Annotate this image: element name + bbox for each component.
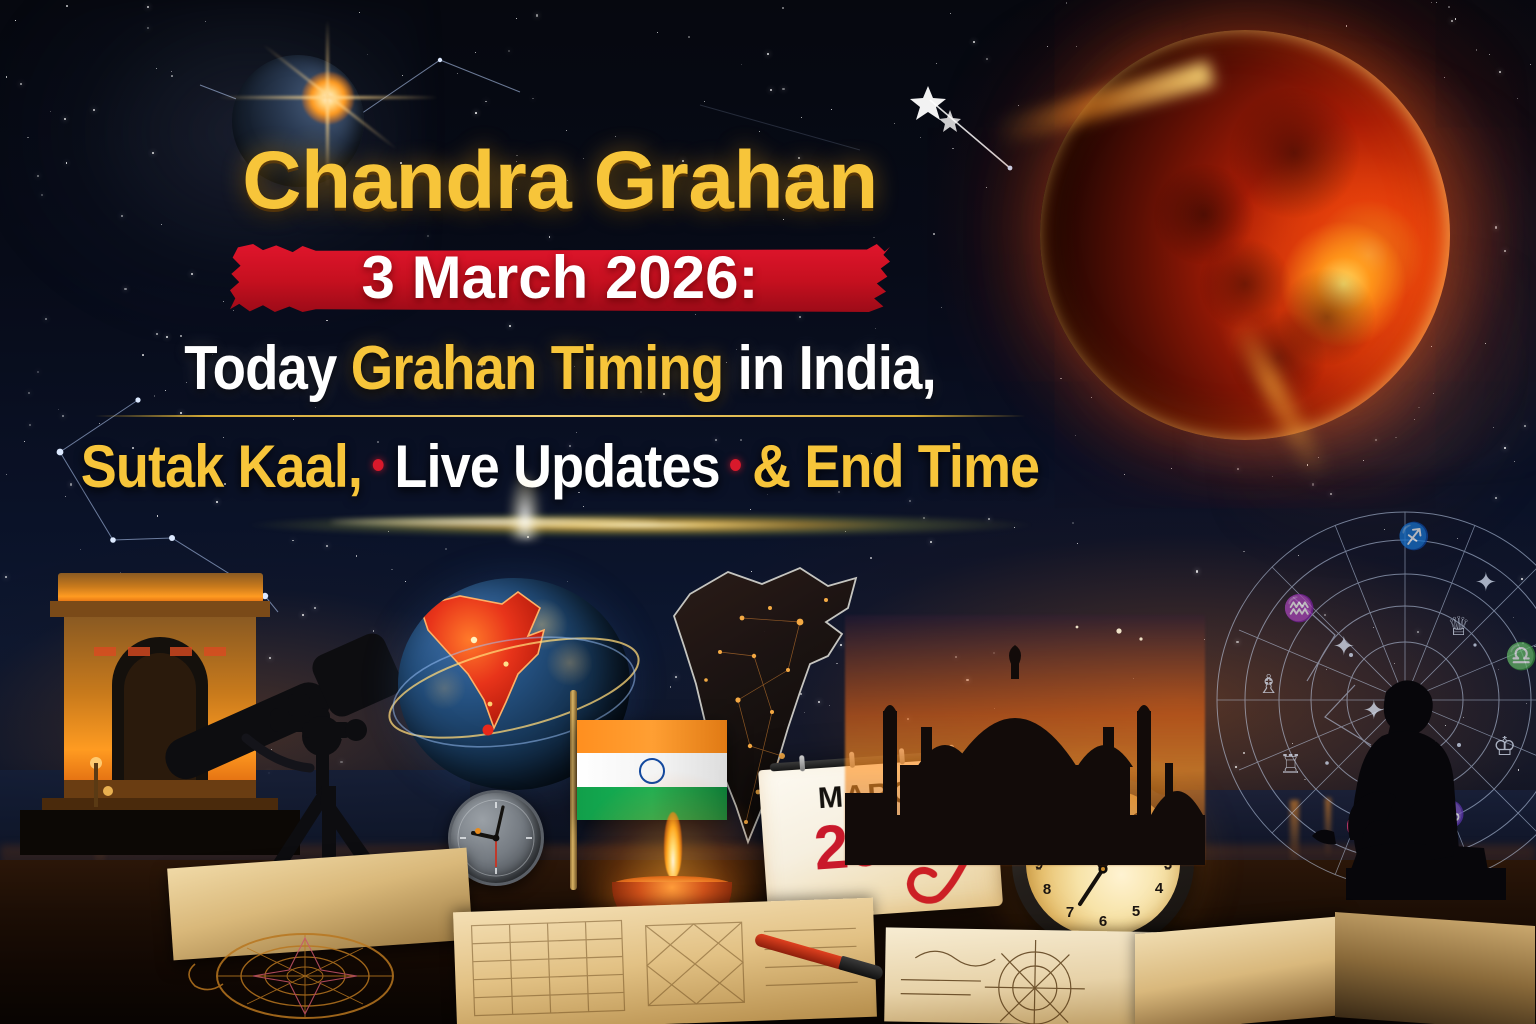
star <box>6 76 7 77</box>
dot-separator-icon <box>731 459 742 471</box>
star <box>920 137 921 138</box>
headline-block: Chandra Grahan 3 March 2026: Today Graha… <box>0 140 1120 498</box>
star <box>457 73 458 74</box>
star <box>950 13 951 14</box>
star <box>326 545 328 547</box>
star <box>205 21 206 22</box>
calendar-ring <box>799 755 805 771</box>
flag-saffron-band <box>577 720 727 753</box>
star <box>402 75 403 76</box>
star <box>782 7 784 9</box>
headline-line3-part-1: Today <box>184 334 350 403</box>
star <box>475 112 477 114</box>
orbit-marker-dot <box>483 725 494 736</box>
flame-icon <box>664 812 682 878</box>
svg-text:♒: ♒ <box>1283 593 1315 623</box>
headline-line-3: Today Grahan Timing in India, <box>67 336 1053 401</box>
star <box>15 20 16 21</box>
headline-live-updates: Live Updates <box>394 433 719 500</box>
headline-end-time: & End Time <box>752 433 1039 500</box>
star <box>147 27 149 29</box>
star <box>583 506 584 507</box>
star <box>704 101 705 102</box>
star <box>1072 522 1074 524</box>
star <box>356 555 358 557</box>
open-book <box>1135 915 1535 1024</box>
glow-swoosh-core <box>330 518 660 526</box>
headline-line3-part-2: Grahan Timing <box>351 334 724 403</box>
book-page-right <box>1335 912 1535 1024</box>
star <box>767 53 769 55</box>
star <box>5 576 7 578</box>
date-banner: 3 March 2026: <box>230 236 890 320</box>
star <box>171 75 173 77</box>
svg-text:7: 7 <box>1066 904 1074 921</box>
star <box>157 515 159 517</box>
glow-swoosh-flash <box>508 470 542 540</box>
eclipse-promo-banner: MARCH 2026 1212 345 678 91011 <box>0 0 1536 1024</box>
sitting-person-silhouette <box>1290 650 1510 900</box>
svg-text:8: 8 <box>1043 881 1051 898</box>
star <box>1524 425 1526 427</box>
headline-date-label: 3 March 2026: <box>230 236 890 320</box>
evening-stars <box>1076 626 1143 641</box>
star <box>475 52 476 53</box>
star <box>485 101 487 103</box>
book-page-left <box>1135 916 1345 1024</box>
star <box>870 557 872 559</box>
star <box>801 117 802 118</box>
star <box>532 98 534 100</box>
star <box>508 50 510 52</box>
star <box>566 130 567 131</box>
star <box>770 89 772 91</box>
star <box>359 12 360 13</box>
star <box>445 548 447 550</box>
svg-text:4: 4 <box>1155 880 1164 897</box>
star <box>750 509 752 511</box>
taj-mahal-silhouette-icon <box>845 645 1205 865</box>
star <box>93 109 95 111</box>
svg-text:♗: ♗ <box>1257 670 1280 699</box>
headline-sutak-kaal: Sutak Kaal, <box>81 433 362 500</box>
star <box>894 123 896 125</box>
glow-swoosh-underline <box>245 512 1035 538</box>
star <box>50 111 51 112</box>
gold-divider-rule <box>94 415 1026 417</box>
headline-line-1: Chandra Grahan <box>0 140 1120 222</box>
star <box>657 32 658 33</box>
headline-line-4: Sutak Kaal,Live Updates& End Time <box>56 435 1064 498</box>
star <box>147 6 149 8</box>
red-checkmark-icon <box>903 858 972 906</box>
star <box>27 137 29 139</box>
second-hand <box>1080 869 1103 904</box>
star <box>1530 64 1531 65</box>
kundli-chart-grid <box>467 908 862 1021</box>
star <box>156 68 157 69</box>
star <box>831 109 832 110</box>
star <box>936 63 937 64</box>
svg-text:✦: ✦ <box>1475 568 1497 597</box>
star <box>216 501 218 503</box>
star <box>782 88 784 90</box>
svg-text:6: 6 <box>1099 913 1107 930</box>
headline-line3-part-3: in India, <box>723 334 935 403</box>
svg-text:♐: ♐ <box>1396 519 1432 553</box>
star <box>80 549 81 550</box>
astrolabe-wheel-icon <box>185 918 400 1024</box>
svg-text:♕: ♕ <box>1447 612 1470 641</box>
star <box>759 131 761 133</box>
star <box>20 83 22 85</box>
star <box>536 14 538 16</box>
star <box>741 64 742 65</box>
star <box>292 540 294 542</box>
star <box>64 118 66 120</box>
star <box>1077 543 1078 544</box>
star <box>930 541 932 543</box>
star <box>367 54 368 55</box>
star <box>66 5 68 7</box>
taj-mahal-skyline <box>845 615 1205 865</box>
dot-separator-icon <box>373 459 384 471</box>
star <box>516 18 517 19</box>
star <box>688 36 690 38</box>
star <box>171 71 172 72</box>
